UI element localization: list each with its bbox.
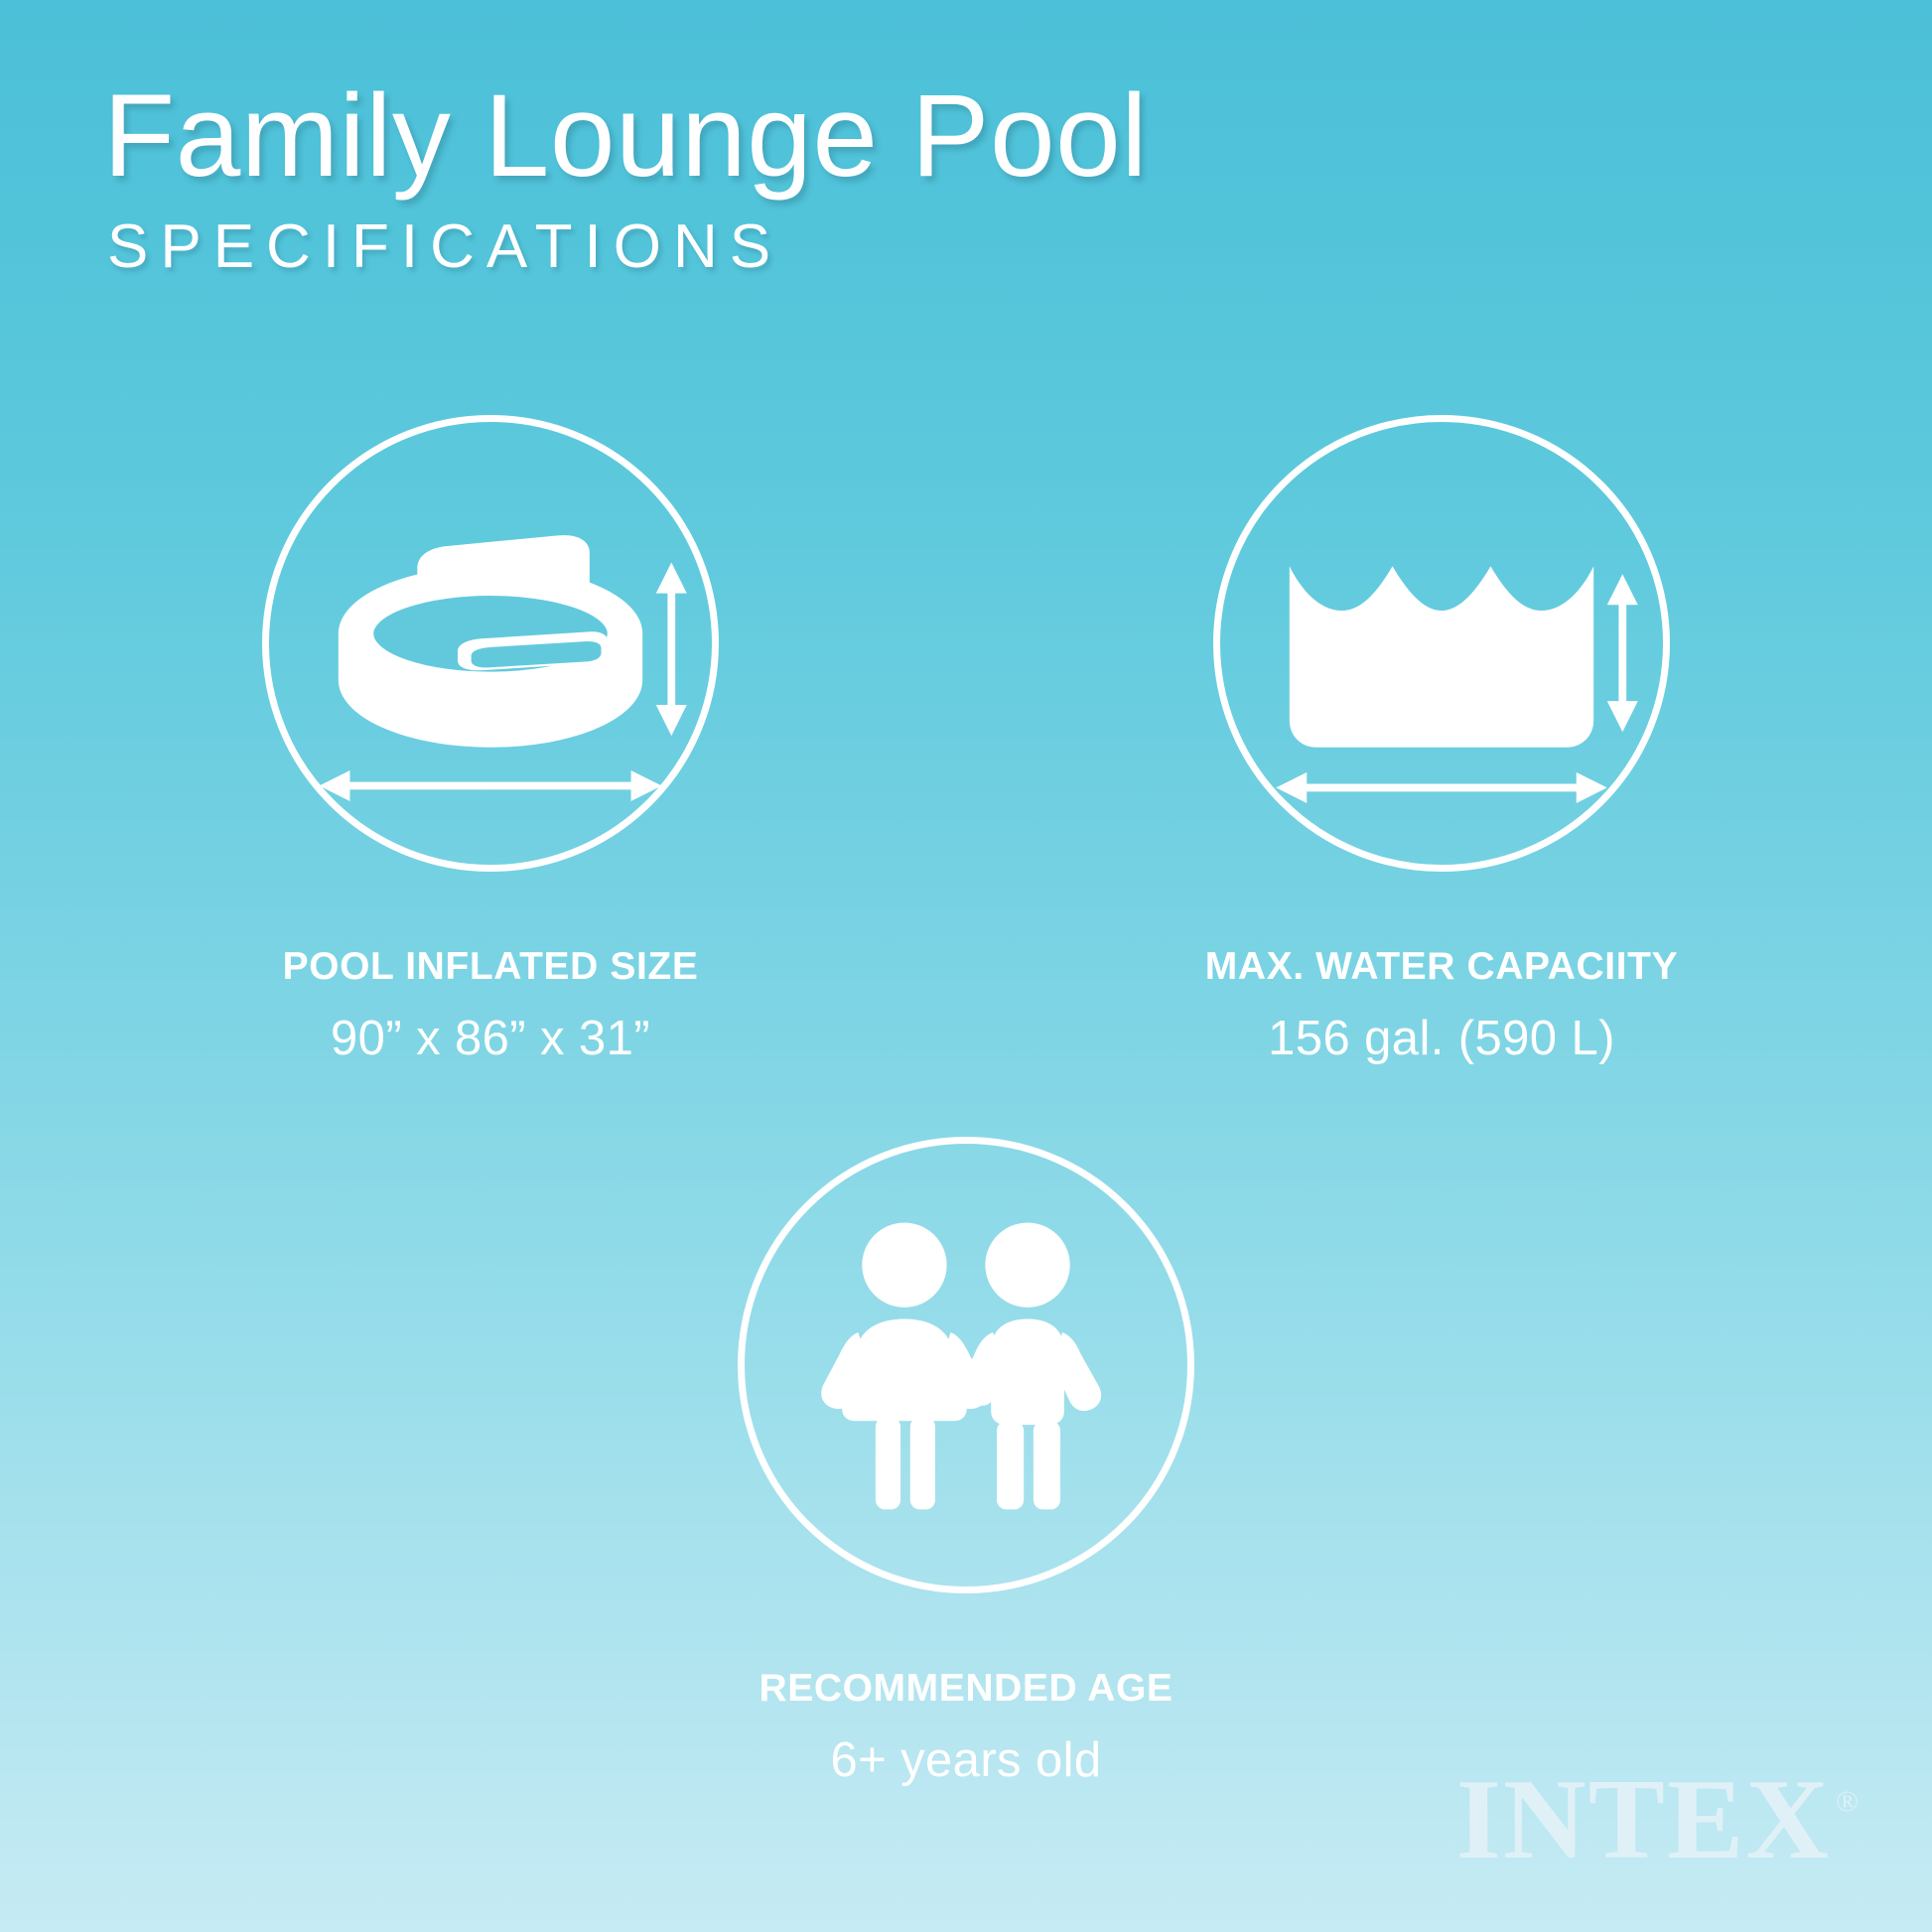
icon-container bbox=[1054, 415, 1829, 872]
icon-container bbox=[579, 1137, 1353, 1593]
page-subtitle: SPECIFICATIONS bbox=[107, 216, 1592, 278]
brand-name: INTEX bbox=[1456, 1771, 1831, 1870]
icon-container bbox=[103, 415, 878, 872]
spec-value: 156 gal. (590 L) bbox=[1054, 1011, 1829, 1066]
spec-max-water-capacity: MAX. WATER CAPACIITY 156 gal. (590 L) bbox=[1054, 415, 1829, 1066]
brand-logo: INTEX ® bbox=[1456, 1771, 1859, 1870]
header: Family Lounge Pool SPECIFICATIONS bbox=[103, 77, 1592, 278]
spec-value: 90” x 86” x 31” bbox=[103, 1011, 878, 1066]
spec-label: POOL INFLATED SIZE bbox=[103, 945, 878, 989]
spec-recommended-age: RECOMMENDED AGE 6+ years old bbox=[579, 1137, 1353, 1788]
specifications-infographic: Family Lounge Pool SPECIFICATIONS bbox=[0, 0, 1932, 1932]
pool-inflated-size-icon bbox=[262, 415, 719, 872]
spec-label: RECOMMENDED AGE bbox=[579, 1667, 1353, 1711]
max-water-capacity-icon bbox=[1213, 415, 1670, 872]
page-title: Family Lounge Pool bbox=[103, 77, 1592, 195]
registered-trademark-icon: ® bbox=[1836, 1787, 1859, 1817]
spec-label: MAX. WATER CAPACIITY bbox=[1054, 945, 1829, 989]
recommended-age-icon bbox=[738, 1137, 1194, 1593]
spec-value: 6+ years old bbox=[579, 1732, 1353, 1788]
spec-pool-inflated-size: POOL INFLATED SIZE 90” x 86” x 31” bbox=[103, 415, 878, 1066]
